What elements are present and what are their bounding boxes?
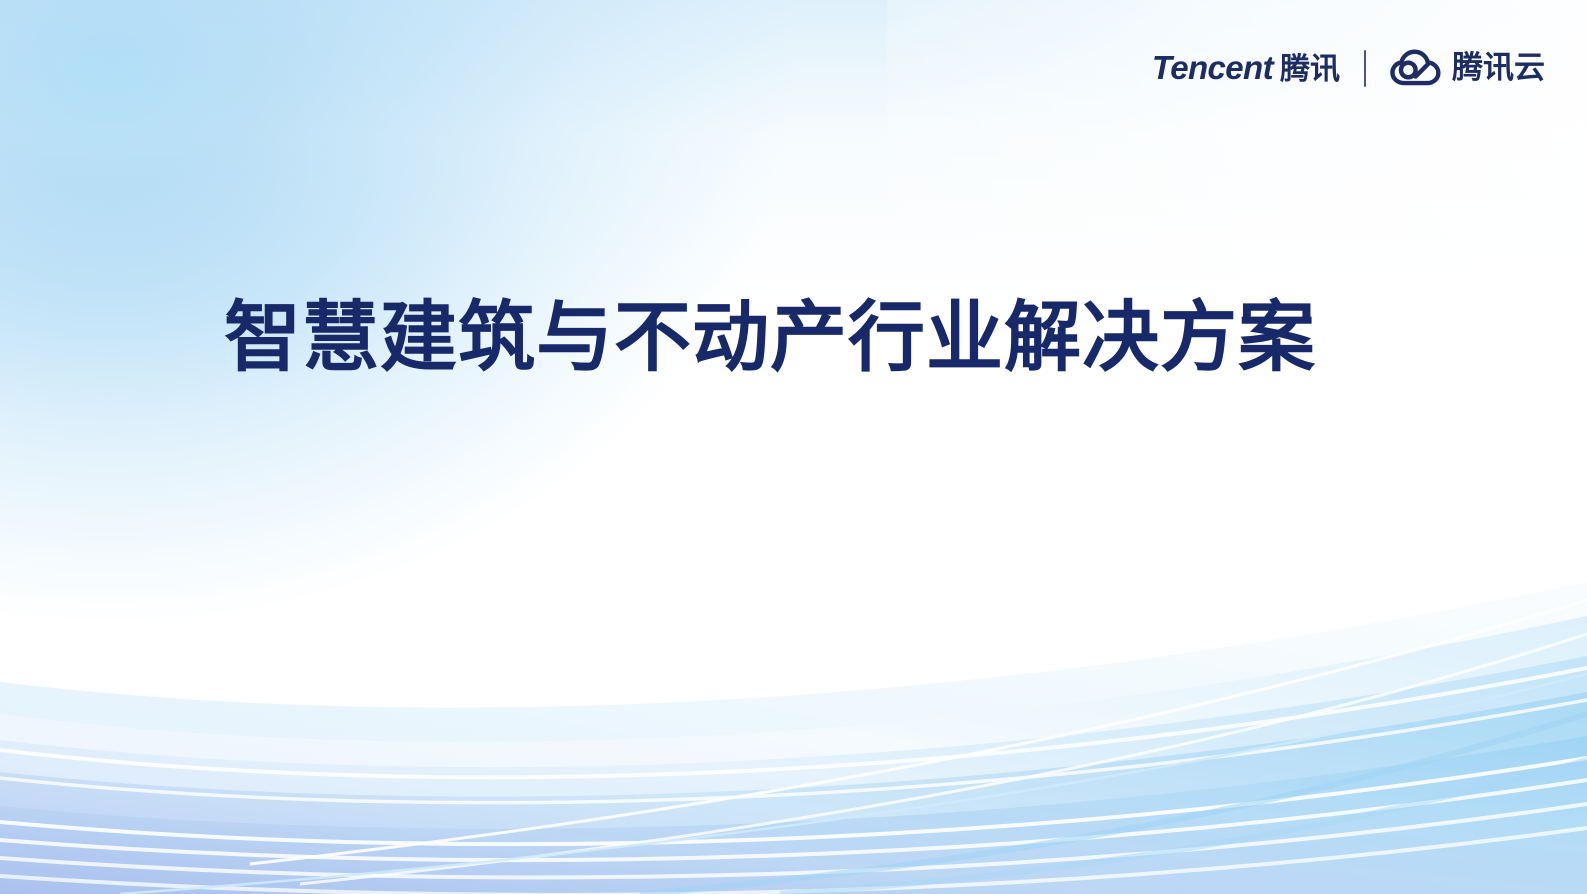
tencent-wordmark-cjk: 腾讯 — [1280, 55, 1340, 85]
tencent-logo: Tencent 腾讯 — [1152, 51, 1340, 85]
tencent-cloud-wordmark: 腾讯云 — [1452, 53, 1545, 84]
title-slide: Tencent 腾讯 腾讯云 智慧建筑与不动产行业解决方案 — [0, 0, 1587, 894]
page-title: 智慧建筑与不动产行业解决方案 — [224, 296, 1404, 382]
tencent-wordmark-latin: Tencent — [1152, 51, 1273, 84]
title-block: 智慧建筑与不动产行业解决方案 — [224, 296, 1404, 382]
cloud-icon — [1390, 49, 1442, 87]
logo-divider — [1364, 50, 1366, 87]
brand-logo-bar: Tencent 腾讯 腾讯云 — [1152, 44, 1545, 92]
tencent-cloud-logo: 腾讯云 — [1390, 49, 1545, 87]
slide-background — [0, 0, 1587, 894]
